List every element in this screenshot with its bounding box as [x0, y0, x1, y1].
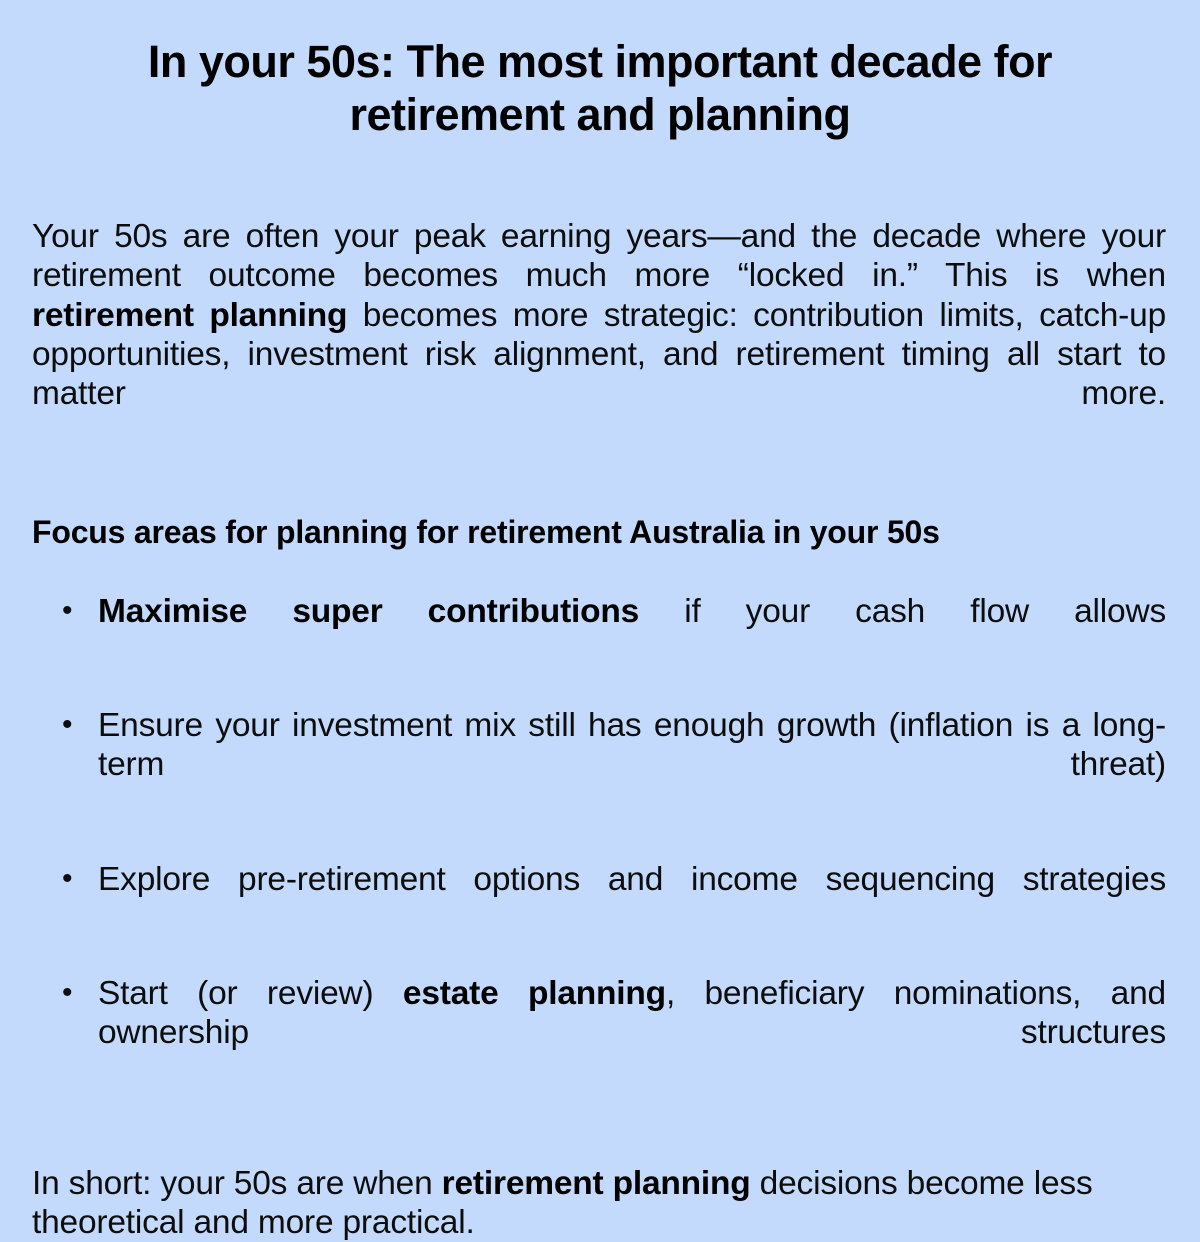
list-item: Explore pre-retirement options and incom…: [32, 860, 1166, 938]
bullet-bold-mid: estate planning: [403, 975, 666, 1012]
outro-paragraph: In short: your 50s are when retirement p…: [32, 1092, 1166, 1242]
infographic-card: In your 50s: The most important decade f…: [0, 0, 1200, 1200]
intro-text-part1: Your 50s are often your peak earning yea…: [32, 218, 1166, 294]
bullet-bold-lead: Maximise super contributions: [98, 593, 639, 630]
section-heading-focus-areas: Focus areas for planning for retirement …: [32, 452, 1166, 551]
focus-areas-list: Maximise super contributions if your cas…: [32, 552, 1166, 1092]
list-item: Ensure your investment mix still has eno…: [32, 706, 1166, 824]
bullet-text: Ensure your investment mix still has eno…: [98, 707, 1166, 783]
bullet-text: Start (or review): [98, 975, 403, 1012]
outro-bold-retirement-planning: retirement planning: [442, 1165, 751, 1202]
bullet-text: if your cash flow allows: [639, 593, 1166, 630]
page-title-text: In your 50s: The most important decade f…: [148, 36, 1052, 140]
body-content: Your 50s are often your peak earning yea…: [0, 141, 1200, 1242]
list-item: Start (or review) estate planning, benef…: [32, 974, 1166, 1092]
intro-bold-retirement-planning: retirement planning: [32, 297, 347, 334]
intro-paragraph: Your 50s are often your peak earning yea…: [32, 141, 1166, 452]
bullet-text: Explore pre-retirement options and incom…: [98, 861, 1166, 898]
page-title: In your 50s: The most important decade f…: [0, 0, 1200, 141]
list-item: Maximise super contributions if your cas…: [32, 592, 1166, 670]
outro-text-part1: In short: your 50s are when: [32, 1165, 442, 1202]
